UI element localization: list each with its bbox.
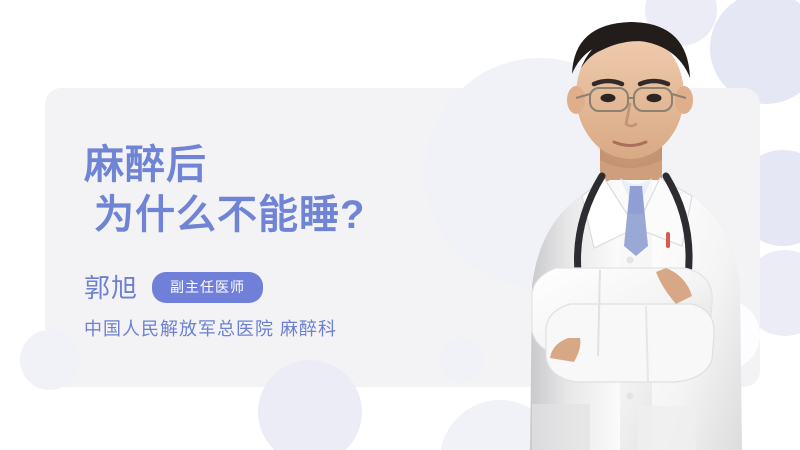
doctor-title-badge: 副主任医师 bbox=[152, 272, 263, 303]
doctor-affiliation: 中国人民解放军总医院 麻醉科 bbox=[84, 315, 484, 341]
headline-line-1: 麻醉后 bbox=[84, 140, 484, 190]
doctor-portrait-photo bbox=[470, 0, 800, 450]
doctor-name: 郭旭 bbox=[84, 273, 138, 303]
poster-text-block: 麻醉后 为什么不能睡? 郭旭 副主任医师 中国人民解放军总医院 麻醉科 bbox=[84, 140, 484, 341]
poster-canvas: 麻醉后 为什么不能睡? 郭旭 副主任医师 中国人民解放军总医院 麻醉科 bbox=[0, 0, 800, 450]
doctor-name-row: 郭旭 副主任医师 bbox=[84, 272, 484, 303]
headline-line-2: 为什么不能睡? bbox=[84, 190, 484, 240]
